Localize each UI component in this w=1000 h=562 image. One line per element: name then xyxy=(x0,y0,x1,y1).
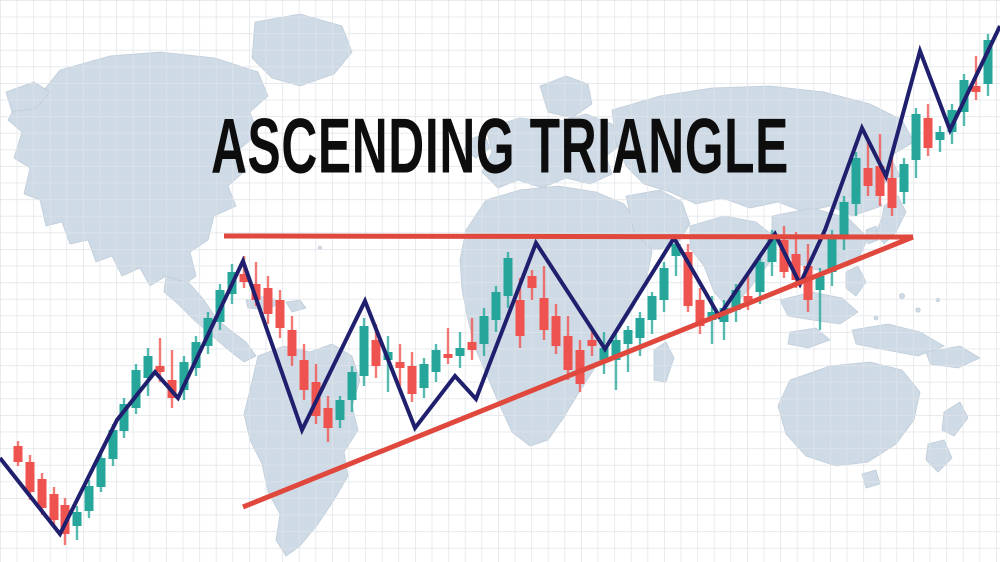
candle-body xyxy=(564,336,573,370)
candle-body xyxy=(300,360,309,390)
candle-body xyxy=(420,364,429,388)
candle-body xyxy=(276,300,285,328)
candle-body xyxy=(492,292,501,320)
candle-body xyxy=(26,462,35,492)
candle-body xyxy=(73,512,82,526)
candle-body xyxy=(636,318,645,338)
candle-body xyxy=(936,132,945,140)
candle-body xyxy=(372,340,381,366)
candle-body xyxy=(324,408,333,428)
candle-body xyxy=(480,316,489,344)
candle-body xyxy=(624,330,633,344)
candle-wick xyxy=(471,318,473,360)
candle-body xyxy=(756,262,765,292)
candle-wick xyxy=(447,328,449,364)
graph-grid xyxy=(0,0,1000,562)
candle-body xyxy=(264,288,273,314)
infographic-stage: ASCENDING TRIANGLE xyxy=(0,0,1000,562)
candle-body xyxy=(432,350,441,372)
candle-body xyxy=(336,400,345,420)
candle-body xyxy=(552,316,561,346)
candle-body xyxy=(588,340,597,346)
candle-body xyxy=(528,276,537,288)
candle-body xyxy=(912,114,921,160)
candle-body xyxy=(924,118,933,148)
resistance-line xyxy=(224,236,913,237)
candle-body xyxy=(396,362,405,368)
candle-body xyxy=(456,348,465,356)
candle-body xyxy=(576,350,585,384)
page-title: ASCENDING TRIANGLE xyxy=(211,102,789,190)
candle-body xyxy=(85,486,94,511)
chart-canvas: ASCENDING TRIANGLE xyxy=(0,0,1000,562)
candle-body xyxy=(504,258,513,296)
candle-body xyxy=(648,296,657,320)
candle-body xyxy=(360,326,369,376)
candle-body xyxy=(540,298,549,330)
candle-body xyxy=(38,479,47,508)
candle-body xyxy=(444,354,453,358)
candle-body xyxy=(864,168,873,186)
candle-body xyxy=(900,164,909,192)
candle-body xyxy=(14,446,23,462)
candle-body xyxy=(840,202,849,238)
candle-body xyxy=(468,342,477,350)
candle-body xyxy=(408,366,417,394)
candle-body xyxy=(888,178,897,208)
candle-body xyxy=(660,268,669,300)
candle-body xyxy=(852,158,861,204)
candle-wick xyxy=(171,350,173,408)
candle-body xyxy=(516,300,525,336)
candle-body xyxy=(288,330,297,356)
candle-body xyxy=(50,494,59,520)
candle-body xyxy=(348,372,357,400)
